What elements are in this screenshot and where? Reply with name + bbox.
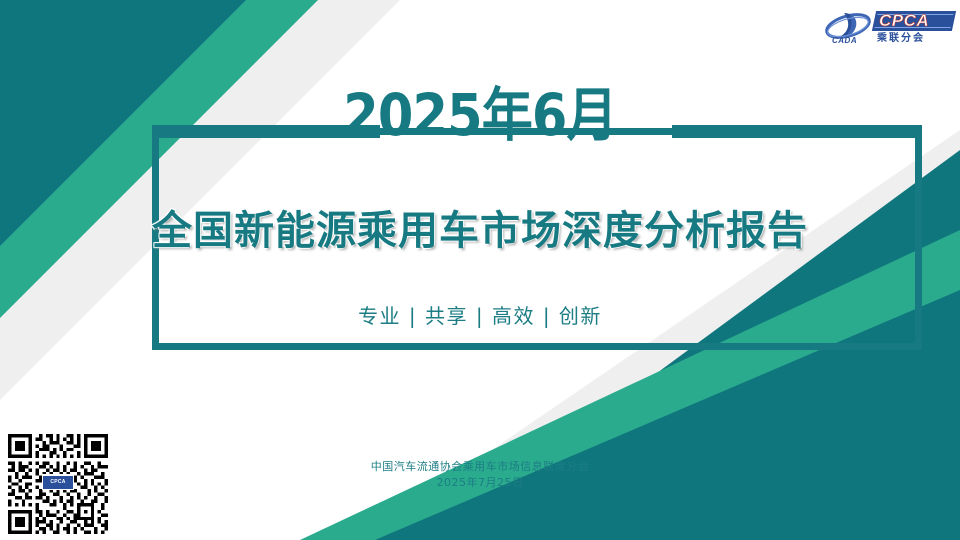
cpca-latin-text: CPCA — [879, 10, 954, 31]
cpca-chinese-text: 乘联分会 — [877, 33, 955, 45]
qr-code[interactable]: CPCA — [8, 434, 108, 534]
year-heading: 2025年6月 — [58, 84, 903, 146]
footer-organization: 中国汽车流通协会乘用车市场信息联席分会 — [0, 459, 960, 475]
footer-block: 中国汽车流通协会乘用车市场信息联席分会 2025年7月25日 — [0, 459, 960, 491]
cada-abbr-text: CADA — [832, 36, 857, 45]
cpca-logo: CADA CPCA 乘联分会 — [824, 7, 956, 51]
cpca-wordmark: CPCA 乘联分会 — [874, 8, 954, 50]
qr-center-logo-text: CPCA — [43, 476, 73, 489]
qr-center-logo: CPCA — [42, 474, 74, 490]
page-title: 全国新能源乘用车市场深度分析报告 — [0, 205, 960, 257]
tagline: 专业 | 共享 | 高效 | 创新 — [0, 303, 960, 329]
footer-date: 2025年7月25日 — [0, 475, 960, 491]
cada-swoosh-icon: CADA — [824, 8, 874, 50]
slide-canvas: CADA CPCA 乘联分会 2025年6月 全国新能源乘用车市场深度分析报告 … — [0, 0, 960, 540]
